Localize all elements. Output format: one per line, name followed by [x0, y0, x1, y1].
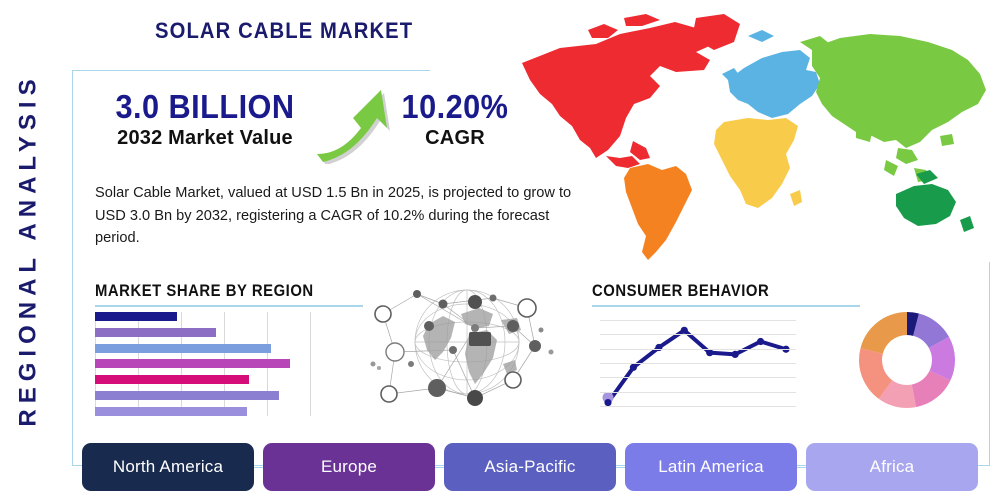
bar-chart-bars [95, 312, 310, 416]
region-pill-latin-america[interactable]: Latin America [625, 443, 797, 491]
kpi-market-value-label: 2032 Market Value [95, 127, 315, 150]
region-pill-label: Europe [321, 457, 377, 477]
bar-north-america [95, 312, 177, 321]
region-pill-asia-pacific[interactable]: Asia-Pacific [444, 443, 616, 491]
region-pill-label: Latin America [658, 457, 764, 477]
line-chart-gridlines [600, 312, 796, 416]
region-pill-europe[interactable]: Europe [263, 443, 435, 491]
bar-middle-east [95, 375, 249, 384]
region-pill-africa[interactable]: Africa [806, 443, 978, 491]
section-header-consumer-behavior-text: CONSUMER BEHAVIOR [592, 282, 833, 301]
vertical-section-label: REGIONAL ANALYSIS [0, 0, 59, 500]
donut-chart [855, 308, 959, 412]
section-rule [95, 305, 363, 307]
bar-europe [95, 328, 216, 337]
region-pill-label: Africa [870, 457, 915, 477]
consumer-behavior-line-chart [600, 312, 796, 416]
bar-latin-america [95, 359, 290, 368]
growth-arrow-icon [313, 84, 399, 164]
section-header-consumer-behavior: CONSUMER BEHAVIOR [592, 282, 860, 307]
kpi-cagr-label: CAGR [390, 127, 520, 150]
kpi-cagr-number: 10.20% [395, 88, 516, 126]
bar-rest-of-world [95, 407, 247, 416]
section-rule [592, 305, 860, 307]
infographic-root: REGIONAL ANALYSIS SOLAR CABLE MARKET [0, 0, 1000, 500]
kpi-cagr: 10.20% CAGR [390, 88, 520, 150]
global-network-icon [365, 268, 570, 418]
bar-africa [95, 391, 279, 400]
page-title: SOLAR CABLE MARKET [155, 18, 413, 44]
region-pill-label: North America [113, 457, 223, 477]
section-header-market-share-text: MARKET SHARE BY REGION [95, 282, 336, 301]
section-header-market-share: MARKET SHARE BY REGION [95, 282, 363, 307]
kpi-row: 3.0 BILLION 2032 Market Value 10.20% CAG… [95, 88, 515, 166]
market-share-bar-chart [95, 312, 310, 416]
kpi-market-value: 3.0 BILLION 2032 Market Value [95, 88, 315, 150]
market-description: Solar Cable Market, valued at USD 1.5 Bn… [95, 182, 593, 250]
vertical-section-label-text: REGIONAL ANALYSIS [15, 73, 43, 426]
region-pill-label: Asia-Pacific [484, 457, 575, 477]
bar-asia-pacific [95, 344, 271, 353]
region-pill-north-america[interactable]: North America [82, 443, 254, 491]
donut-slice [861, 312, 907, 354]
region-pill-group[interactable]: North AmericaEuropeAsia-PacificLatin Ame… [82, 443, 1000, 491]
kpi-market-value-number: 3.0 BILLION [103, 88, 308, 126]
